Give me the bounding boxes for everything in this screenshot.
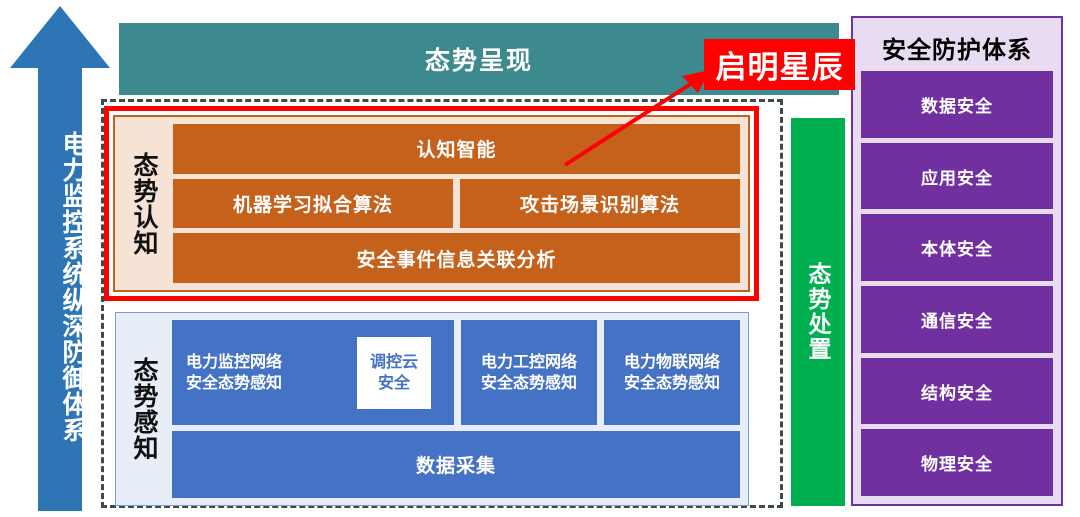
perception-card-0-line2: 安全态势感知 <box>186 373 282 394</box>
security-protection-list: 数据安全 应用安全 本体安全 通信安全 结构安全 物理安全 <box>861 71 1053 496</box>
cognition-box-ml-fitting-algorithm[interactable]: 机器学习拟合算法 <box>173 179 453 229</box>
dispatch-cloud-security-chip[interactable]: 调控云 安全 <box>356 336 432 410</box>
protection-item-host-security[interactable]: 本体安全 <box>861 214 1053 281</box>
callout-arrow-icon <box>550 60 720 175</box>
perception-rows: 电力监控网络 安全态势感知 电力工控网络 安全态势感知 电力物联网络 安全态势感… <box>172 313 748 505</box>
perception-card-2-line2: 安全态势感知 <box>624 373 720 394</box>
vendor-callout-badge[interactable]: 启明星辰 <box>704 39 855 90</box>
cognition-box-event-correlation-analysis[interactable]: 安全事件信息关联分析 <box>173 233 740 283</box>
protection-item-physical-security[interactable]: 物理安全 <box>861 429 1053 496</box>
situation-disposal-column[interactable]: 态势处置 <box>791 118 845 506</box>
perception-card-0-line1: 电力监控网络 <box>186 352 282 373</box>
security-protection-panel: 安全防护体系 数据安全 应用安全 本体安全 通信安全 结构安全 物理安全 <box>851 16 1063 506</box>
perception-card-industrial-control-network[interactable]: 电力工控网络 安全态势感知 <box>461 320 597 425</box>
protection-item-application-security[interactable]: 应用安全 <box>861 143 1053 210</box>
diagram-canvas: 电力监控系统纵深防御体系 态势呈现 态势认知 认知智能 机器学习拟合算法 攻击场… <box>0 0 1080 517</box>
cognition-row: 安全事件信息关联分析 <box>173 233 740 283</box>
perception-card-1-line2: 安全态势感知 <box>481 373 577 394</box>
perception-card-1-line1: 电力工控网络 <box>481 352 577 373</box>
data-collection-bar[interactable]: 数据采集 <box>172 431 740 498</box>
cognition-row: 机器学习拟合算法 攻击场景识别算法 <box>173 179 740 229</box>
perception-side-label: 态势感知 <box>116 313 172 505</box>
protection-item-communication-security[interactable]: 通信安全 <box>861 286 1053 353</box>
perception-card-2-line1: 电力物联网络 <box>624 352 720 373</box>
cognition-box-attack-scenario-algorithm[interactable]: 攻击场景识别算法 <box>460 179 740 229</box>
cognition-side-label: 态势认知 <box>115 117 173 290</box>
cloud-chip-line1: 调控云 <box>370 352 418 373</box>
protection-item-data-security[interactable]: 数据安全 <box>861 71 1053 138</box>
deep-defense-arrow-label: 电力监控系统纵深防御体系 <box>32 72 88 502</box>
perception-card-row: 电力监控网络 安全态势感知 电力工控网络 安全态势感知 电力物联网络 安全态势感… <box>172 320 740 425</box>
cloud-chip-line2: 安全 <box>370 373 418 394</box>
security-protection-title: 安全防护体系 <box>861 23 1053 71</box>
protection-item-structure-security[interactable]: 结构安全 <box>861 358 1053 425</box>
perception-card-iot-network[interactable]: 电力物联网络 安全态势感知 <box>604 320 740 425</box>
situation-perception-panel: 态势感知 电力监控网络 安全态势感知 电力工控网络 安全态势感知 <box>115 312 749 506</box>
